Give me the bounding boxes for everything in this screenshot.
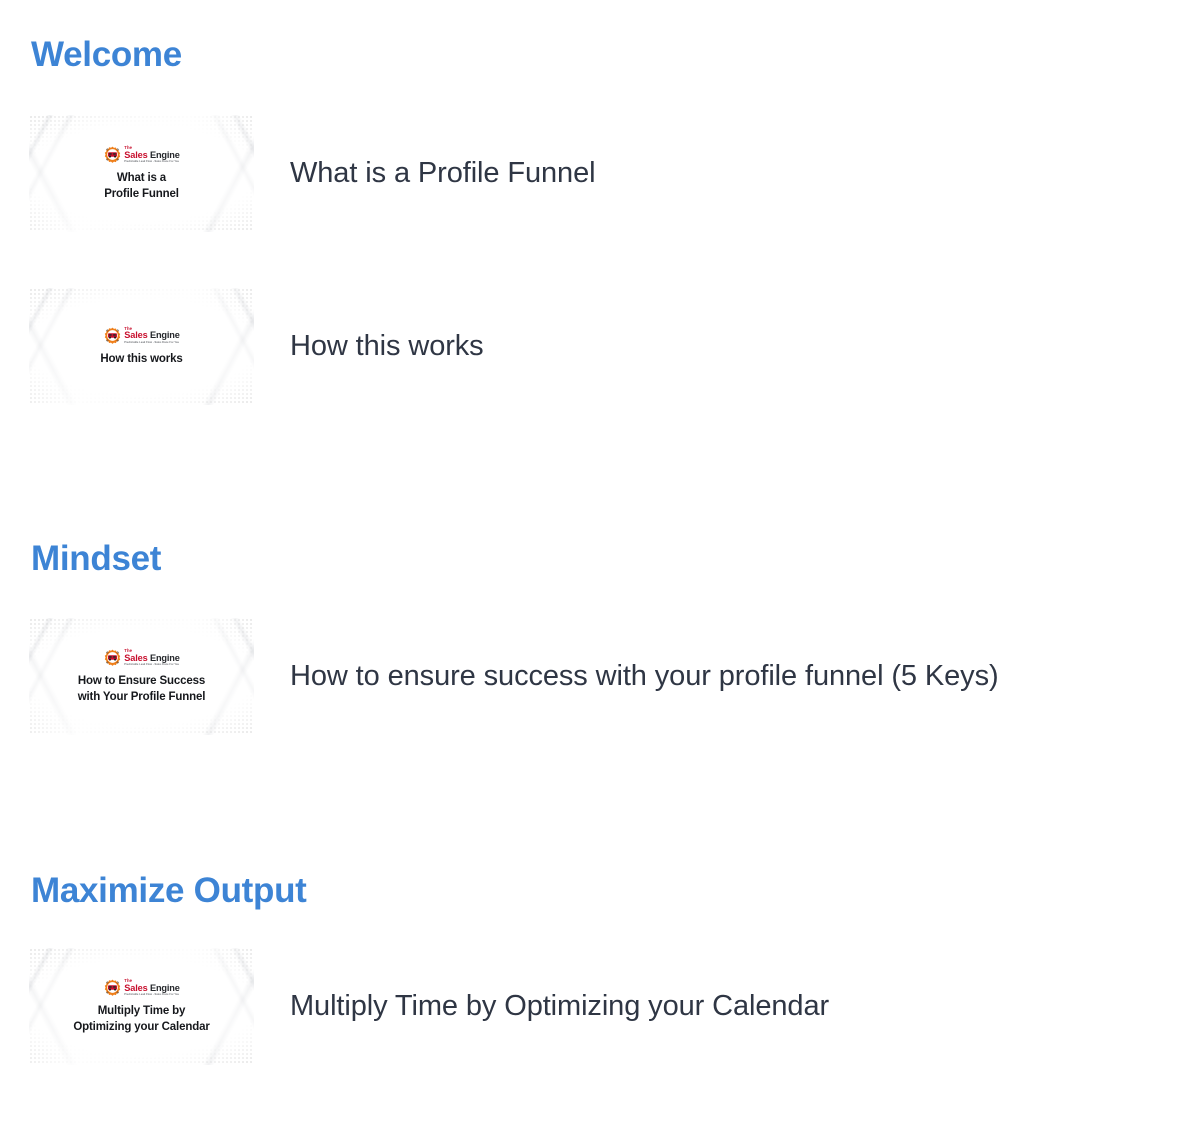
logo-tagline: Predictable Lead Flow · Sales Done For Y… — [124, 161, 179, 163]
section-title-mindset: Mindset — [31, 540, 161, 579]
gear-icon — [103, 145, 122, 164]
logo-engine-text: Engine — [150, 983, 180, 993]
thumbnail-title: Multiply Time by Optimizing your Calenda… — [73, 1004, 209, 1034]
gear-icon — [103, 648, 122, 667]
logo-engine-text: Engine — [150, 330, 180, 340]
lesson-row[interactable]: The Sales Engine Predictable Lead Flow ·… — [0, 618, 1200, 735]
logo-tagline: Predictable Lead Flow · Sales Done For Y… — [124, 994, 179, 996]
lesson-row[interactable]: The Sales Engine Predictable Lead Flow ·… — [0, 288, 1200, 405]
lesson-row[interactable]: The Sales Engine Predictable Lead Flow ·… — [0, 948, 1200, 1065]
lesson-row[interactable]: The Sales Engine Predictable Lead Flow ·… — [0, 115, 1200, 232]
logo-tagline: Predictable Lead Flow · Sales Done For Y… — [124, 664, 179, 666]
section-title-welcome: Welcome — [31, 36, 182, 75]
thumbnail-title: How to Ensure Success with Your Profile … — [78, 674, 206, 704]
logo-sales-text: Sales — [124, 653, 150, 663]
lesson-thumbnail[interactable]: The Sales Engine Predictable Lead Flow ·… — [29, 618, 254, 735]
gear-icon — [103, 978, 122, 997]
sales-engine-logo: The Sales Engine Predictable Lead Flow ·… — [103, 145, 179, 164]
thumbnail-title: What is a Profile Funnel — [104, 171, 179, 201]
logo-sales-text: Sales — [124, 983, 150, 993]
sales-engine-logo: The Sales Engine Predictable Lead Flow ·… — [103, 326, 179, 345]
logo-sales-text: Sales — [124, 150, 150, 160]
logo-sales-text: Sales — [124, 330, 150, 340]
lesson-title[interactable]: Multiply Time by Optimizing your Calenda… — [290, 988, 829, 1024]
lesson-thumbnail[interactable]: The Sales Engine Predictable Lead Flow ·… — [29, 115, 254, 232]
course-outline: Welcome — [0, 0, 1200, 1139]
sales-engine-logo: The Sales Engine Predictable Lead Flow ·… — [103, 648, 179, 667]
lesson-thumbnail[interactable]: The Sales Engine Predictable Lead Flow ·… — [29, 288, 254, 405]
logo-tagline: Predictable Lead Flow · Sales Done For Y… — [124, 342, 179, 344]
lesson-thumbnail[interactable]: The Sales Engine Predictable Lead Flow ·… — [29, 948, 254, 1065]
section-title-maximize-output: Maximize Output — [31, 872, 307, 911]
logo-engine-text: Engine — [150, 150, 180, 160]
lesson-title[interactable]: How this works — [290, 328, 484, 364]
lesson-title[interactable]: How to ensure success with your profile … — [290, 658, 999, 694]
gear-icon — [103, 326, 122, 345]
sales-engine-logo: The Sales Engine Predictable Lead Flow ·… — [103, 978, 179, 997]
lesson-title[interactable]: What is a Profile Funnel — [290, 155, 595, 191]
logo-engine-text: Engine — [150, 653, 180, 663]
thumbnail-title: How this works — [100, 352, 182, 367]
